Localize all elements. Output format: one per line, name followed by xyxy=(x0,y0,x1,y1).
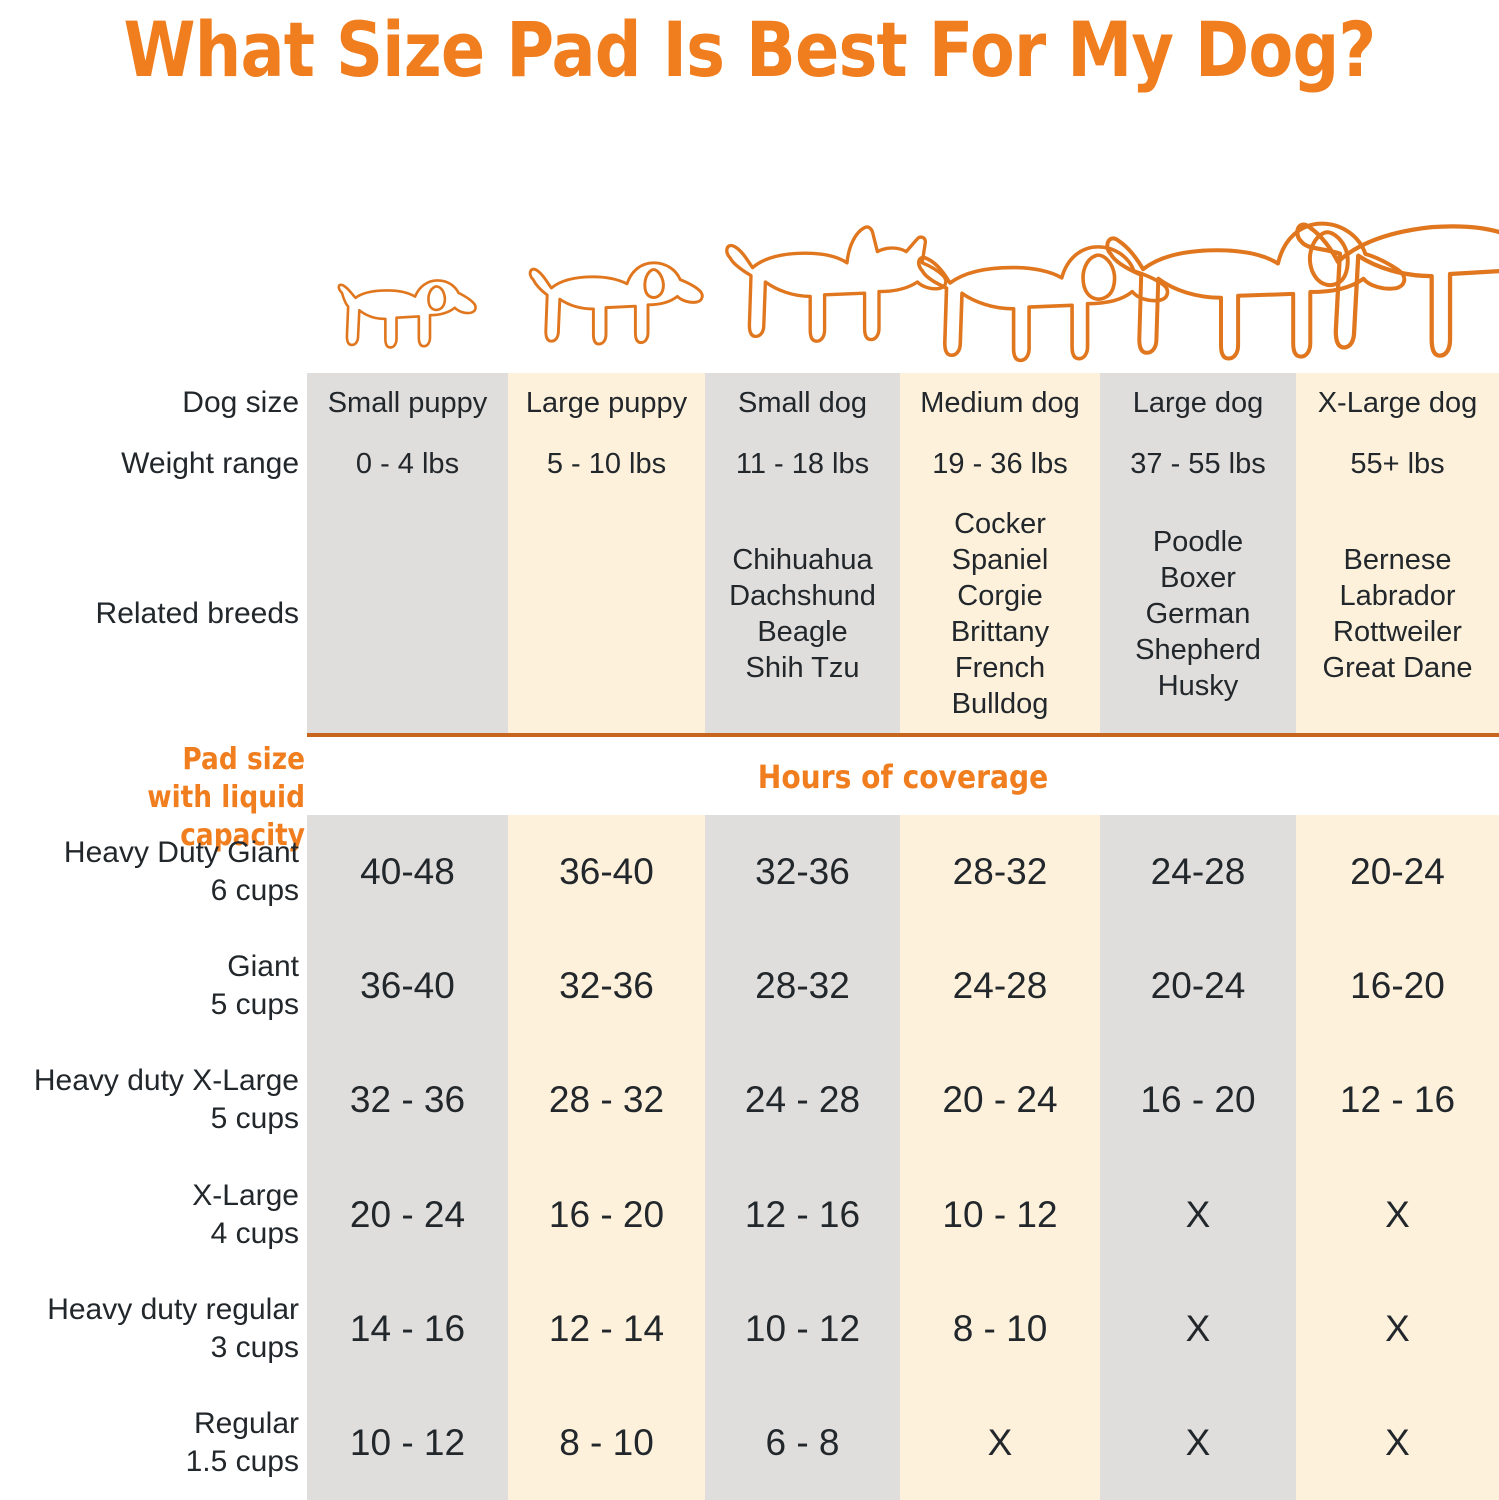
cell-hdreg-large-dog: X xyxy=(1100,1272,1296,1386)
cell-xl-x-large-dog: X xyxy=(1296,1157,1499,1271)
cell-giant-large-puppy: 32-36 xyxy=(508,929,705,1043)
cell-weight-large-puppy: 5 - 10 lbs xyxy=(508,434,705,495)
dog-silhouette-large-dog xyxy=(1107,224,1404,359)
cell-hdreg-small-puppy: 14 - 16 xyxy=(307,1272,508,1386)
cell-dog-size-small-dog: Small dog xyxy=(705,373,900,434)
dog-silhouette-small-puppy xyxy=(339,280,476,347)
cell-weight-small-dog: 11 - 18 lbs xyxy=(705,434,900,495)
row-label-dog-size: Dog size xyxy=(0,373,307,434)
cell-dog-size-large-puppy: Large puppy xyxy=(508,373,705,434)
cell-xl-large-dog: X xyxy=(1100,1157,1296,1271)
section-divider xyxy=(307,733,1499,737)
cell-hdgiant-x-large-dog: 20-24 xyxy=(1296,815,1499,929)
cell-giant-x-large-dog: 16-20 xyxy=(1296,929,1499,1043)
row-label-regular: Regular 1.5 cups xyxy=(0,1386,307,1500)
cell-dog-size-x-large-dog: X-Large dog xyxy=(1296,373,1499,434)
cell-giant-large-dog: 20-24 xyxy=(1100,929,1296,1043)
infographic-root: What Size Pad Is Best For My Dog? xyxy=(0,0,1499,1500)
cell-xl-small-puppy: 20 - 24 xyxy=(307,1157,508,1271)
cell-hdreg-large-puppy: 12 - 14 xyxy=(508,1272,705,1386)
cell-hdxl-small-dog: 24 - 28 xyxy=(705,1043,900,1157)
cell-reg-large-dog: X xyxy=(1100,1386,1296,1500)
cell-xl-large-puppy: 16 - 20 xyxy=(508,1157,705,1271)
cell-hdxl-large-dog: 16 - 20 xyxy=(1100,1043,1296,1157)
cell-hdxl-small-puppy: 32 - 36 xyxy=(307,1043,508,1157)
cell-hdgiant-small-dog: 32-36 xyxy=(705,815,900,929)
row-label-heavy-duty-regular: Heavy duty regular 3 cups xyxy=(0,1272,307,1386)
cell-breeds-large-dog: Poodle Boxer German Shepherd Husky xyxy=(1100,494,1296,733)
cell-hdreg-small-dog: 10 - 12 xyxy=(705,1272,900,1386)
row-label-x-large: X-Large 4 cups xyxy=(0,1157,307,1271)
cell-hdxl-large-puppy: 28 - 32 xyxy=(508,1043,705,1157)
dog-silhouette-large-puppy xyxy=(530,263,702,344)
cell-weight-medium-dog: 19 - 36 lbs xyxy=(900,434,1100,495)
hours-of-coverage-header: Hours of coverage xyxy=(379,757,1428,797)
cell-hdxl-medium-dog: 20 - 24 xyxy=(900,1043,1100,1157)
cell-weight-large-dog: 37 - 55 lbs xyxy=(1100,434,1296,495)
cell-xl-medium-dog: 10 - 12 xyxy=(900,1157,1100,1271)
hours-of-coverage-table: Heavy Duty Giant 6 cups 40-48 36-40 32-3… xyxy=(0,815,1499,1500)
cell-breeds-large-puppy xyxy=(508,494,705,733)
row-label-related-breeds: Related breeds xyxy=(0,494,307,733)
row-label-giant: Giant 5 cups xyxy=(0,929,307,1043)
cell-breeds-medium-dog: Cocker Spaniel Corgie Brittany French Bu… xyxy=(900,494,1100,733)
cell-breeds-small-puppy xyxy=(307,494,508,733)
cell-hdgiant-medium-dog: 28-32 xyxy=(900,815,1100,929)
row-label-weight-range: Weight range xyxy=(0,434,307,495)
cell-dog-size-large-dog: Large dog xyxy=(1100,373,1296,434)
dog-silhouette-medium-dog xyxy=(919,247,1168,361)
row-label-heavy-duty-x-large: Heavy duty X-Large 5 cups xyxy=(0,1043,307,1157)
cell-reg-large-puppy: 8 - 10 xyxy=(508,1386,705,1500)
cell-reg-small-puppy: 10 - 12 xyxy=(307,1386,508,1500)
cell-xl-small-dog: 12 - 16 xyxy=(705,1157,900,1271)
cell-weight-small-puppy: 0 - 4 lbs xyxy=(307,434,508,495)
cell-breeds-small-dog: Chihuahua Dachshund Beagle Shih Tzu xyxy=(705,494,900,733)
dog-size-table: Dog size Small puppy Large puppy Small d… xyxy=(0,373,1499,733)
cell-hdgiant-small-puppy: 40-48 xyxy=(307,815,508,929)
cell-hdreg-medium-dog: 8 - 10 xyxy=(900,1272,1100,1386)
cell-dog-size-medium-dog: Medium dog xyxy=(900,373,1100,434)
cell-giant-small-puppy: 36-40 xyxy=(307,929,508,1043)
cell-reg-x-large-dog: X xyxy=(1296,1386,1499,1500)
page-title: What Size Pad Is Best For My Dog? xyxy=(105,4,1394,96)
cell-giant-small-dog: 28-32 xyxy=(705,929,900,1043)
cell-hdreg-x-large-dog: X xyxy=(1296,1272,1499,1386)
cell-dog-size-small-puppy: Small puppy xyxy=(307,373,508,434)
cell-weight-x-large-dog: 55+ lbs xyxy=(1296,434,1499,495)
cell-hdxl-x-large-dog: 12 - 16 xyxy=(1296,1043,1499,1157)
cell-reg-small-dog: 6 - 8 xyxy=(705,1386,900,1500)
cell-reg-medium-dog: X xyxy=(900,1386,1100,1500)
cell-breeds-x-large-dog: Bernese Labrador Rottweiler Great Dane xyxy=(1296,494,1499,733)
dog-silhouette-small-dog xyxy=(727,227,946,341)
cell-giant-medium-dog: 24-28 xyxy=(900,929,1100,1043)
dog-silhouette-x-large-dog xyxy=(1297,172,1499,355)
cell-hdgiant-large-dog: 24-28 xyxy=(1100,815,1296,929)
row-label-heavy-duty-giant: Heavy Duty Giant 6 cups xyxy=(0,815,307,929)
dog-silhouette-strip xyxy=(307,160,1499,373)
cell-hdgiant-large-puppy: 36-40 xyxy=(508,815,705,929)
